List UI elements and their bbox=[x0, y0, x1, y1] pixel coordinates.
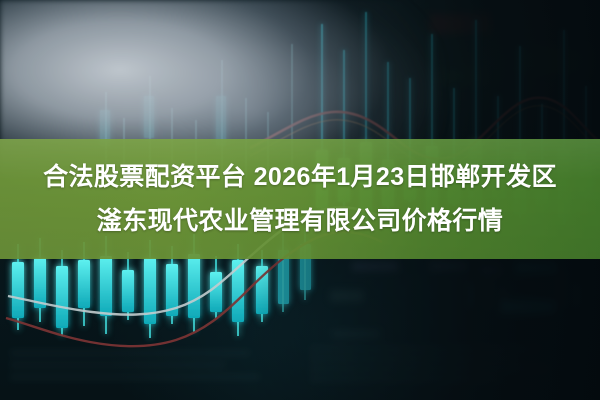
title-banner: 合法股票配资平台 2026年1月23日邯郸开发区 滏东现代农业管理有限公司价格行… bbox=[0, 139, 600, 259]
title-line-2: 滏东现代农业管理有限公司价格行情 bbox=[97, 199, 503, 243]
banner-image-canvas: 合法股票配资平台 2026年1月23日邯郸开发区 滏东现代农业管理有限公司价格行… bbox=[0, 0, 600, 400]
title-line-1: 合法股票配资平台 2026年1月23日邯郸开发区 bbox=[43, 155, 557, 199]
